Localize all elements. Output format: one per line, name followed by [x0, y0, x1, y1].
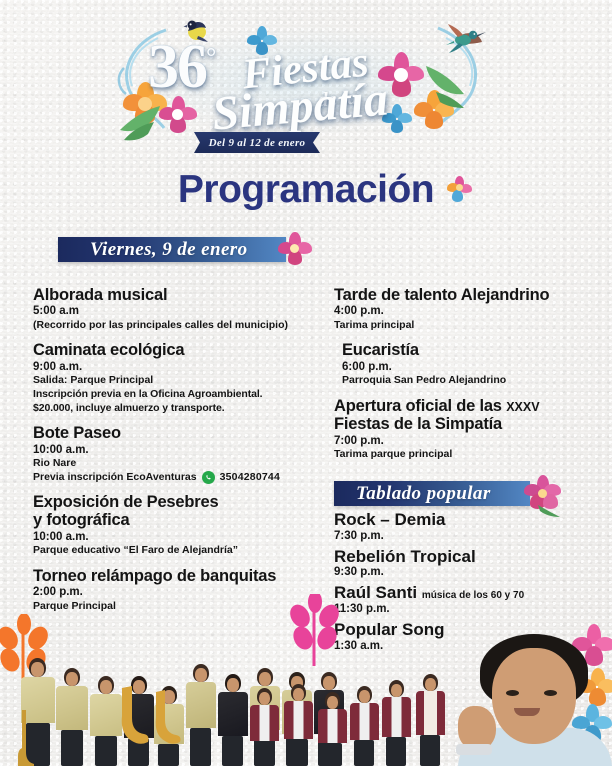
event-item: Tarde de talento Alejandrino 4:00 p.m. T… — [334, 286, 602, 332]
event-detail: Parque educativo “El Faro de Alejandría” — [33, 544, 318, 558]
title-flower-icon — [447, 176, 473, 202]
event-time: 7:00 p.m. — [334, 434, 602, 448]
portrait-face — [492, 648, 576, 744]
portrait-photo — [452, 632, 612, 766]
logo-date-ribbon: Del 9 al 12 de enero — [194, 132, 320, 153]
logo-number: 36° — [148, 32, 214, 103]
event-name: Exposición de Pesebres y fotográfica — [33, 493, 318, 530]
hummingbird-icon — [446, 22, 488, 54]
event-time: 9:00 a.m. — [33, 360, 318, 374]
event-item: Alborada musical 5:00 a.m (Recorrido por… — [33, 286, 318, 332]
event-item: Exposición de Pesebres y fotográfica 10:… — [33, 493, 318, 558]
event-name-line1: Exposición de Pesebres — [33, 493, 218, 511]
tablado-banner-text: Tablado popular — [334, 483, 491, 505]
portrait-mouth — [514, 708, 540, 716]
event-time: 6:00 p.m. — [342, 360, 602, 374]
event-time: 10:00 a.m. — [33, 443, 318, 457]
event-detail: Tarima parque principal — [334, 448, 602, 462]
band-member — [184, 662, 220, 766]
event-time: 4:00 p.m. — [334, 304, 602, 318]
trombone-icon — [16, 710, 38, 766]
band-member — [216, 666, 252, 766]
lineup-item: Rock – Demia 7:30 p.m. — [334, 511, 602, 542]
event-detail: Salida: Parque Principal — [33, 374, 318, 388]
logo-date-text: Del 9 al 12 de enero — [209, 137, 306, 149]
day-banner: Viernes, 9 de enero — [58, 237, 286, 262]
tablado-banner-flower-icon — [524, 475, 562, 515]
event-name: Eucaristía — [342, 341, 602, 359]
lineup-name: Rock – Demia — [334, 511, 602, 530]
event-detail: Parroquia San Pedro Alejandrino — [342, 374, 602, 388]
lineup-name: Raúl Santi música de los 60 y 70 — [334, 584, 602, 603]
event-time: 5:00 a.m — [33, 304, 318, 318]
event-item: Eucaristía 6:00 p.m. Parroquia San Pedro… — [334, 341, 602, 387]
day-banner-flower-icon — [278, 232, 312, 266]
band-member — [316, 692, 350, 766]
band-member — [248, 688, 282, 766]
band-group-photo — [0, 632, 612, 766]
whatsapp-icon[interactable] — [202, 471, 215, 484]
day-banner-text: Viernes, 9 de enero — [58, 239, 248, 261]
portrait-eye-left — [506, 690, 519, 696]
festival-logo: 36° Fiestas de la Simpatía Del 9 al 12 d… — [0, 4, 612, 159]
event-item: Caminata ecológica 9:00 a.m. Salida: Par… — [33, 341, 318, 415]
event-contact-phone[interactable]: 3504280744 — [220, 471, 280, 483]
event-item: Bote Paseo 10:00 a.m. Rio Nare Previa in… — [33, 424, 318, 483]
band-member — [282, 684, 316, 766]
saxophone-icon — [116, 684, 150, 746]
portrait-eye-right — [544, 690, 557, 696]
event-name: Apertura oficial de las XXXV Fiestas de … — [334, 397, 602, 434]
band-member — [348, 686, 382, 766]
event-detail: Parque Principal — [33, 600, 318, 614]
events-left-column: Alborada musical 5:00 a.m (Recorrido por… — [33, 286, 318, 622]
green-leaves-left-icon — [104, 100, 164, 144]
event-name-line2: y fotográfica — [33, 511, 129, 529]
page-title: Programación — [0, 168, 612, 212]
lineup-time: 9:30 p.m. — [334, 566, 602, 578]
event-detail: Inscripción previa en la Oficina Agroamb… — [33, 388, 318, 402]
event-detail: Tarima principal — [334, 319, 602, 333]
event-time: 2:00 p.m. — [33, 585, 318, 599]
lineup-time: 11:30 p.m. — [334, 603, 602, 615]
event-name: Tarde de talento Alejandrino — [334, 286, 602, 304]
event-detail: $20.000, incluye almuerzo y transporte. — [33, 402, 318, 416]
lineup-name: Rebelión Tropical — [334, 548, 602, 567]
events-right-column: Tarde de talento Alejandrino 4:00 p.m. T… — [334, 286, 602, 471]
event-name: Bote Paseo — [33, 424, 318, 442]
tablado-banner: Tablado popular — [334, 481, 530, 506]
event-contact-label: Previa inscripción EcoAventuras — [33, 471, 197, 483]
lineup-time: 7:30 p.m. — [334, 530, 602, 542]
event-item: Torneo relámpago de banquitas 2:00 p.m. … — [33, 567, 318, 613]
event-name: Alborada musical — [33, 286, 318, 304]
band-member — [380, 680, 414, 766]
event-contact: Previa inscripción EcoAventuras 35042807… — [33, 471, 318, 484]
event-name-roman: XXXV — [506, 400, 539, 414]
lineup-item: Raúl Santi música de los 60 y 70 11:30 p… — [334, 584, 602, 615]
event-detail: Rio Nare — [33, 457, 318, 471]
lineup-subtitle: música de los 60 y 70 — [422, 590, 524, 601]
green-leaves-right-icon — [422, 62, 478, 110]
event-name-line2: Fiestas de la Simpatía — [334, 415, 502, 433]
event-detail: (Recorrido por las principales calles de… — [33, 319, 318, 333]
event-time: 10:00 a.m. — [33, 530, 318, 544]
band-member — [414, 674, 448, 766]
band-member — [54, 662, 92, 766]
event-item: Apertura oficial de las XXXV Fiestas de … — [334, 397, 602, 462]
lineup-item: Rebelión Tropical 9:30 p.m. — [334, 548, 602, 579]
event-name: Torneo relámpago de banquitas — [33, 567, 318, 585]
saxophone-icon — [150, 688, 182, 746]
lineup-name-text: Raúl Santi — [334, 583, 417, 602]
poster-root: 36° Fiestas de la Simpatía Del 9 al 12 d… — [0, 0, 612, 766]
event-name-line1: Apertura oficial de las — [334, 397, 502, 415]
portrait-watch — [456, 744, 492, 755]
event-name: Caminata ecológica — [33, 341, 318, 359]
